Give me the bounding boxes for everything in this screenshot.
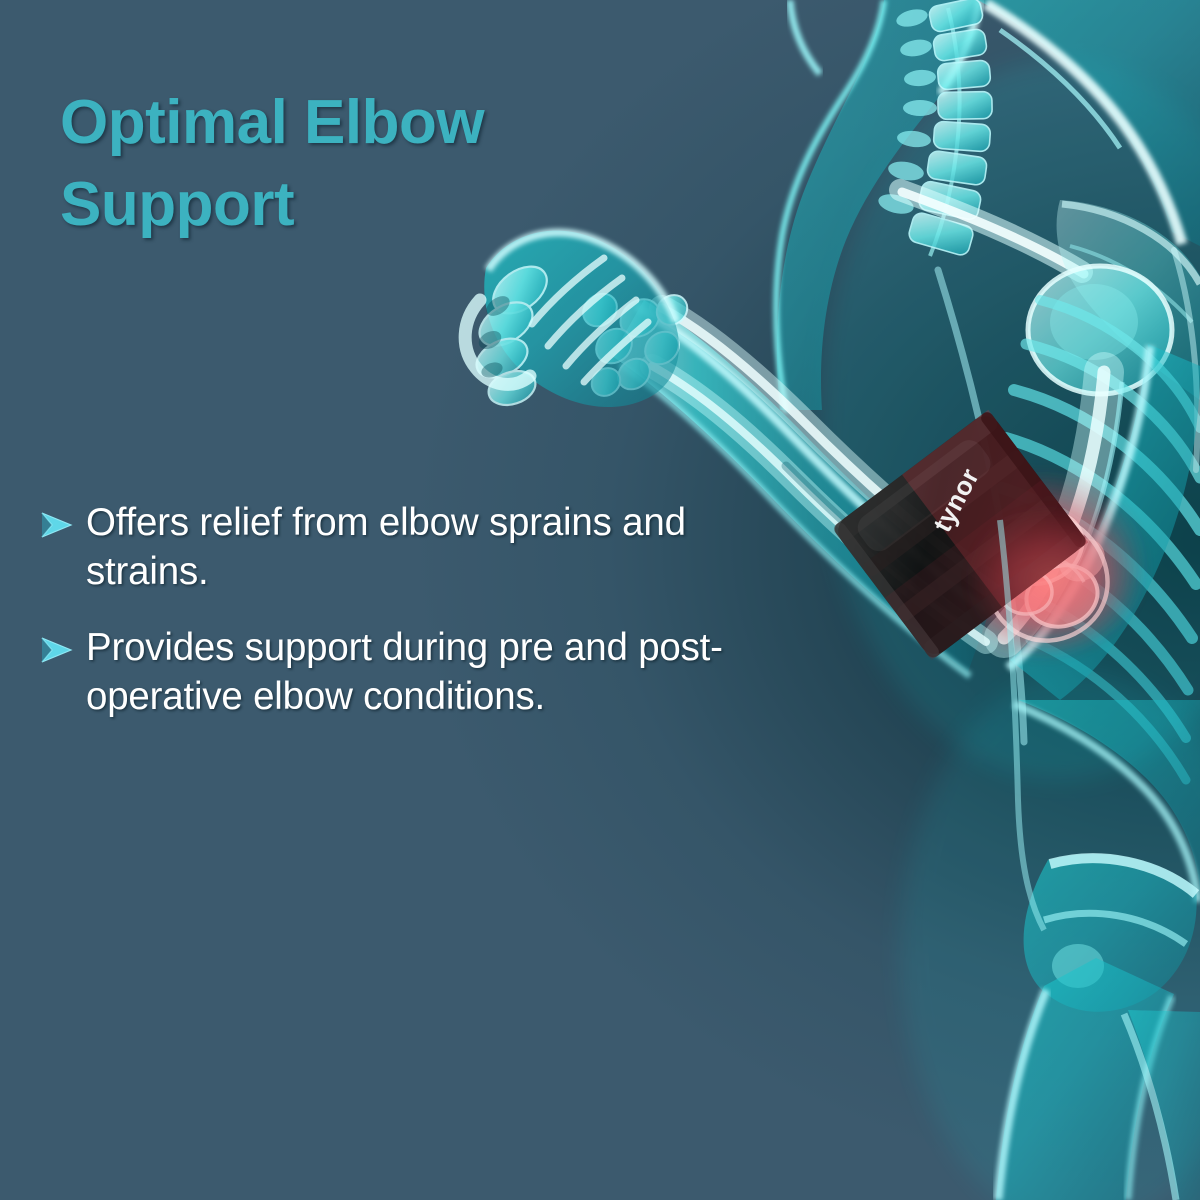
page-title: Optimal Elbow Support (60, 82, 620, 247)
arrowhead-bullet-icon (40, 498, 86, 540)
arrowhead-bullet-icon (40, 623, 86, 665)
list-item: Provides support during pre and post-ope… (40, 623, 780, 722)
elbow-pain-overlay (966, 506, 1138, 654)
product-feature-banner: tynor (0, 0, 1200, 1200)
list-item-label: Provides support during pre and post-ope… (86, 623, 780, 722)
feature-bullet-list: Offers relief from elbow sprains and str… (40, 498, 780, 747)
list-item: Offers relief from elbow sprains and str… (40, 498, 780, 597)
clenched-fist (465, 231, 679, 411)
list-item-label: Offers relief from elbow sprains and str… (86, 498, 780, 597)
